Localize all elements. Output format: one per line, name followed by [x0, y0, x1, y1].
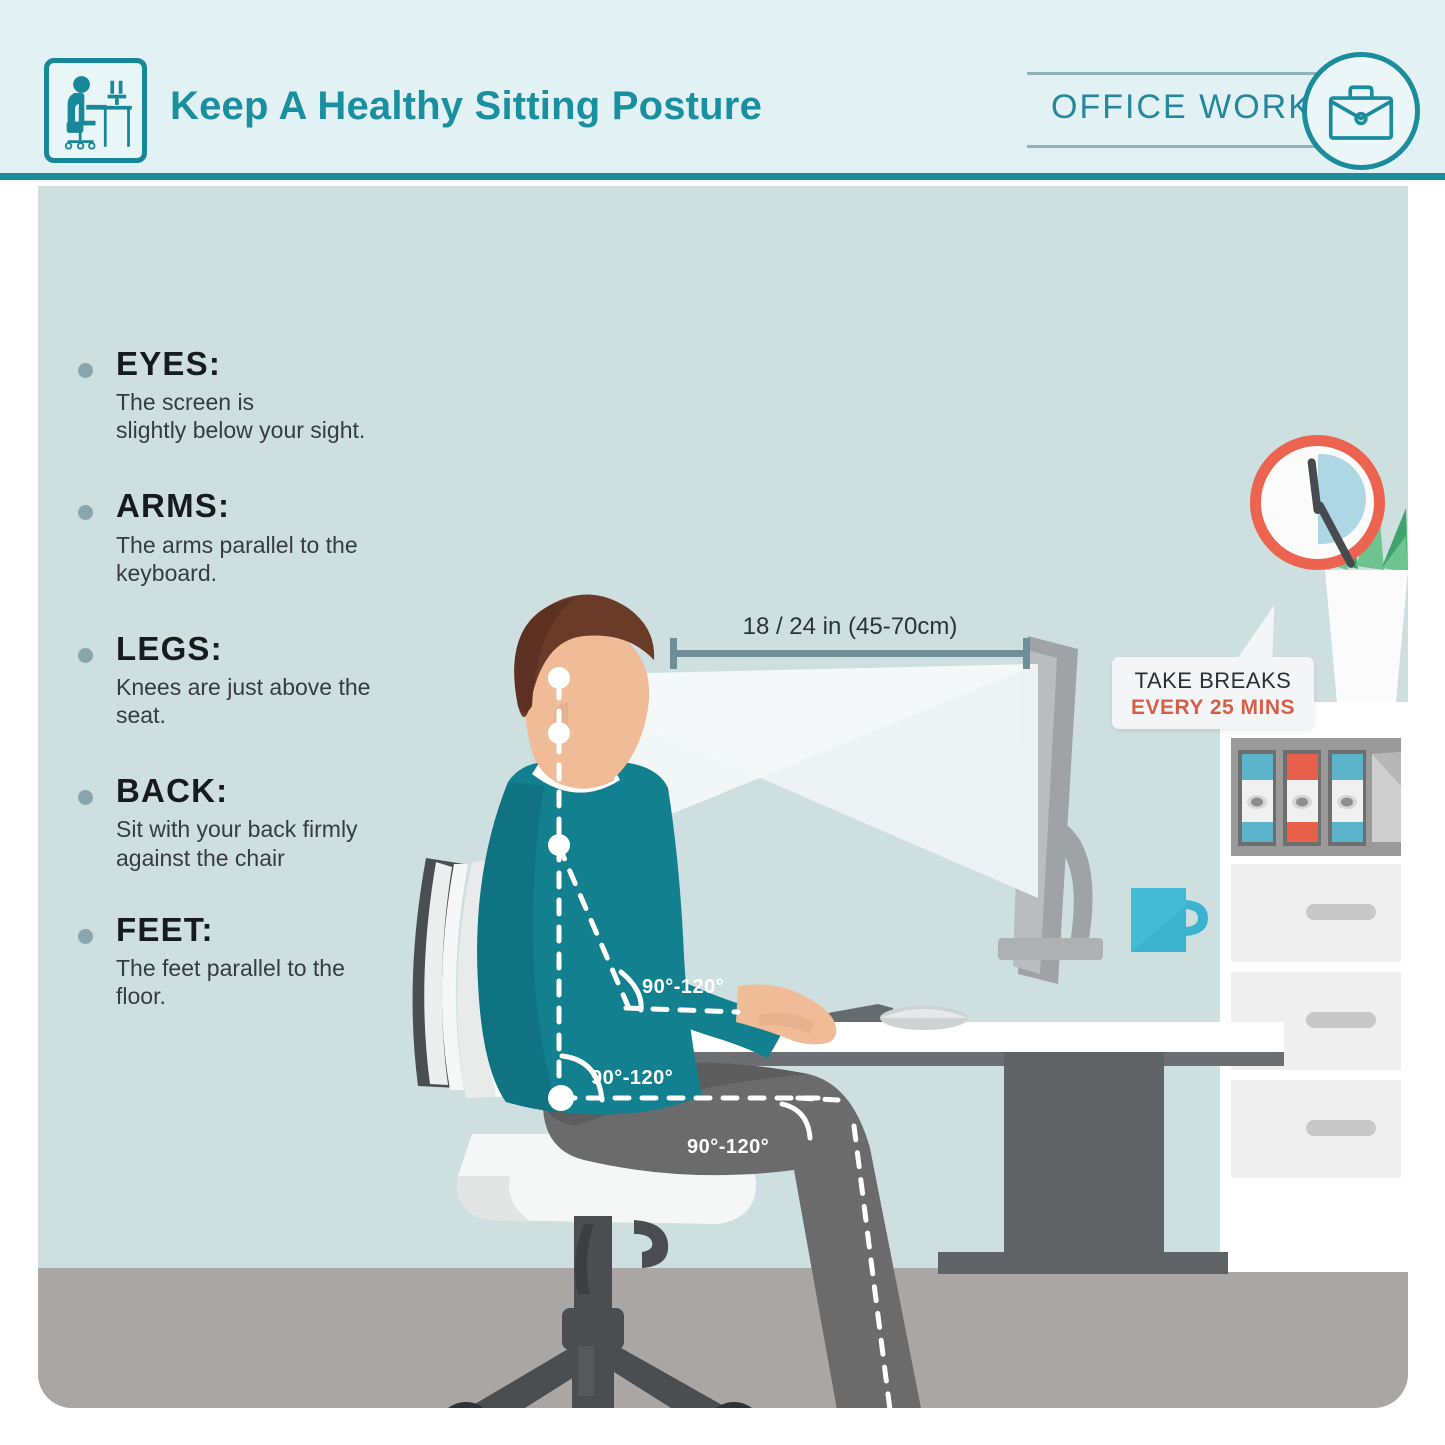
infographic-poster: Keep A Healthy Sitting Posture OFFICE WO… — [0, 0, 1445, 1445]
bullet-dot-icon — [78, 648, 93, 663]
list-item: FEET: The feet parallel to the floor. — [78, 912, 478, 1010]
list-item: ARMS: The arms parallel to the keyboard. — [78, 488, 478, 586]
person-at-desk-icon — [44, 58, 147, 163]
page-title: Keep A Healthy Sitting Posture — [170, 84, 762, 129]
list-item: EYES: The screen is slightly below your … — [78, 346, 478, 444]
tip-body: The screen is slightly below your sight. — [116, 388, 478, 444]
bullet-dot-icon — [78, 363, 93, 378]
take-breaks-callout: TAKE BREAKS EVERY 25 MINS — [1112, 657, 1314, 729]
header-bar: Keep A Healthy Sitting Posture OFFICE WO… — [0, 0, 1445, 180]
main-illustration-panel: EYES: The screen is slightly below your … — [38, 186, 1408, 1408]
tip-body: Sit with your back firmly against the ch… — [116, 815, 478, 871]
angle-label-arm: 90°-120° — [642, 976, 724, 999]
bullet-dot-icon — [78, 929, 93, 944]
angle-label-knee: 90°-120° — [687, 1136, 769, 1159]
tag-rule-top — [1027, 72, 1317, 75]
tip-title: BACK: — [116, 773, 478, 809]
posture-tips-list: EYES: The screen is slightly below your … — [78, 346, 478, 1010]
list-item: LEGS: Knees are just above the seat. — [78, 631, 478, 729]
drawer-group — [1231, 864, 1401, 1178]
tip-title: ARMS: — [116, 488, 478, 524]
coffee-mug — [1131, 888, 1208, 952]
filing-cabinet — [1220, 702, 1408, 1272]
clock-wedge — [1318, 454, 1366, 544]
bullet-dot-icon — [78, 505, 93, 520]
list-item: BACK: Sit with your back firmly against … — [78, 773, 478, 871]
tag-rule-bottom — [1027, 145, 1317, 148]
clock-icon — [1250, 435, 1385, 570]
briefcase-icon — [1302, 52, 1420, 170]
tip-title: EYES: — [116, 346, 478, 382]
measure-label: 18 / 24 in (45-70cm) — [743, 613, 958, 641]
binder-group — [1238, 750, 1401, 846]
tip-body: Knees are just above the seat. — [116, 673, 478, 729]
bullet-dot-icon — [78, 790, 93, 805]
tip-title: FEET: — [116, 912, 478, 948]
briefcase-glyph — [1307, 57, 1415, 165]
category-tag-label: OFFICE WORK — [1051, 88, 1313, 127]
category-tag: OFFICE WORK — [1027, 62, 1317, 158]
person-at-desk-glyph — [49, 63, 142, 158]
tip-body: The feet parallel to the floor. — [116, 954, 478, 1010]
callout-secondary-text: EVERY 25 MINS — [1112, 696, 1314, 720]
tip-body: The arms parallel to the keyboard. — [116, 531, 478, 587]
callout-primary-text: TAKE BREAKS — [1112, 668, 1314, 694]
tip-title: LEGS: — [116, 631, 478, 667]
measure-bar-icon — [670, 650, 1030, 657]
floor — [38, 1268, 1408, 1408]
angle-label-hip: 90°-120° — [591, 1067, 673, 1090]
